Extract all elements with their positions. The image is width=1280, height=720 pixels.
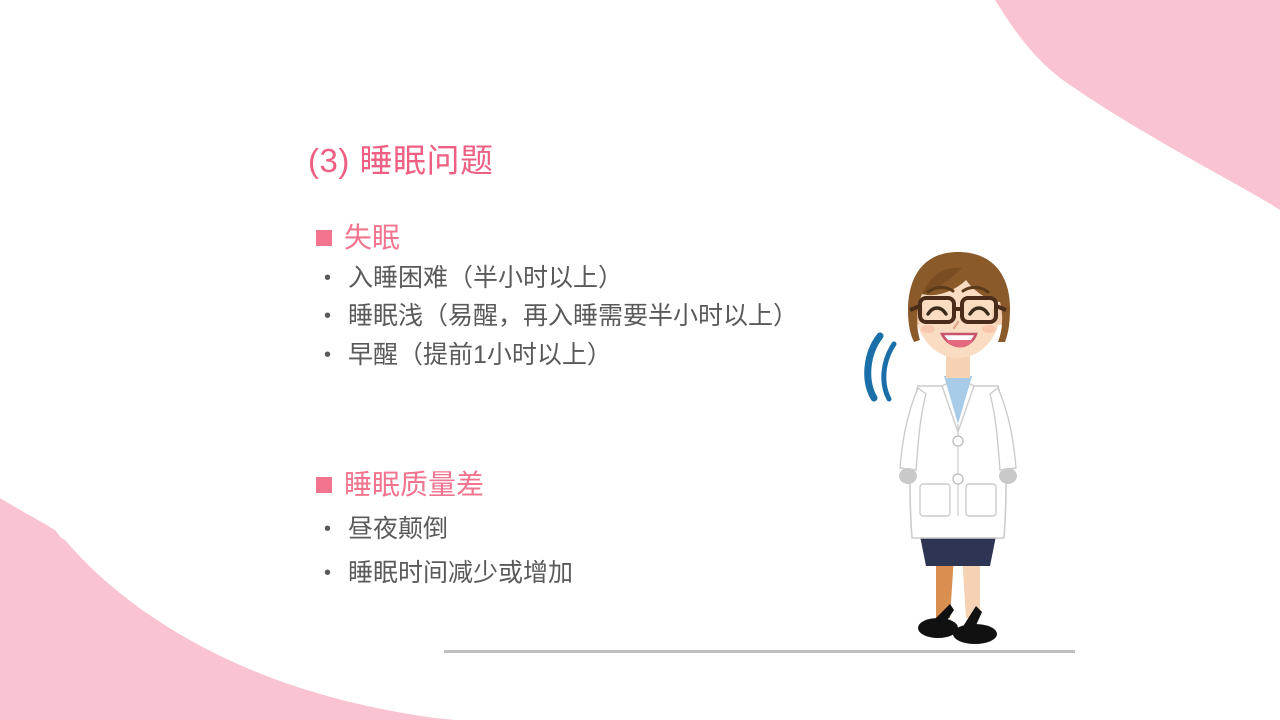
female-doctor-illustration (858, 236, 1058, 656)
coat-pocket-left (920, 484, 950, 516)
section-heading-label: 睡眠质量差 (344, 468, 484, 502)
skirt (920, 536, 996, 566)
section-sleep-quality: 睡眠质量差 昼夜颠倒 睡眠时间减少或增加 (316, 468, 876, 591)
section-heading-row: 睡眠质量差 (316, 468, 876, 502)
bullet-list-sleep-quality: 昼夜颠倒 睡眠时间减少或增加 (316, 512, 876, 591)
pink-square-bullet-icon (316, 477, 332, 493)
section-insomnia: 失眠 入睡困难（半小时以上） 睡眠浅（易醒，再入睡需要半小时以上） 早醒（提前1… (316, 221, 876, 372)
coat-pocket-right (966, 484, 996, 516)
bullet-list-insomnia: 入睡困难（半小时以上） 睡眠浅（易醒，再入睡需要半小时以上） 早醒（提前1小时以… (316, 261, 876, 373)
section-heading-label: 失眠 (344, 221, 400, 255)
slide-content: (3) 睡眠问题 失眠 入睡困难（半小时以上） 睡眠浅（易醒，再入睡需要半小时以… (0, 0, 1280, 720)
page-title: (3) 睡眠问题 (308, 141, 494, 181)
coat-button (953, 474, 963, 484)
slide-canvas: (3) 睡眠问题 失眠 入睡困难（半小时以上） 睡眠浅（易醒，再入睡需要半小时以… (0, 0, 1280, 720)
hand-left (899, 468, 917, 484)
list-item: 早醒（提前1小时以上） (316, 338, 888, 373)
coat-button (953, 436, 963, 446)
section-heading-row: 失眠 (316, 221, 876, 255)
list-item: 睡眠时间减少或增加 (316, 556, 876, 591)
list-item: 入睡困难（半小时以上） (316, 261, 888, 296)
hand-right (999, 468, 1017, 484)
list-item: 昼夜颠倒 (316, 512, 876, 547)
pink-square-bullet-icon (316, 230, 332, 246)
cheek-right (982, 325, 996, 333)
list-item: 睡眠浅（易醒，再入睡需要半小时以上） (316, 299, 888, 334)
cheek-left (921, 325, 935, 333)
motion-arc-icon (868, 336, 894, 399)
